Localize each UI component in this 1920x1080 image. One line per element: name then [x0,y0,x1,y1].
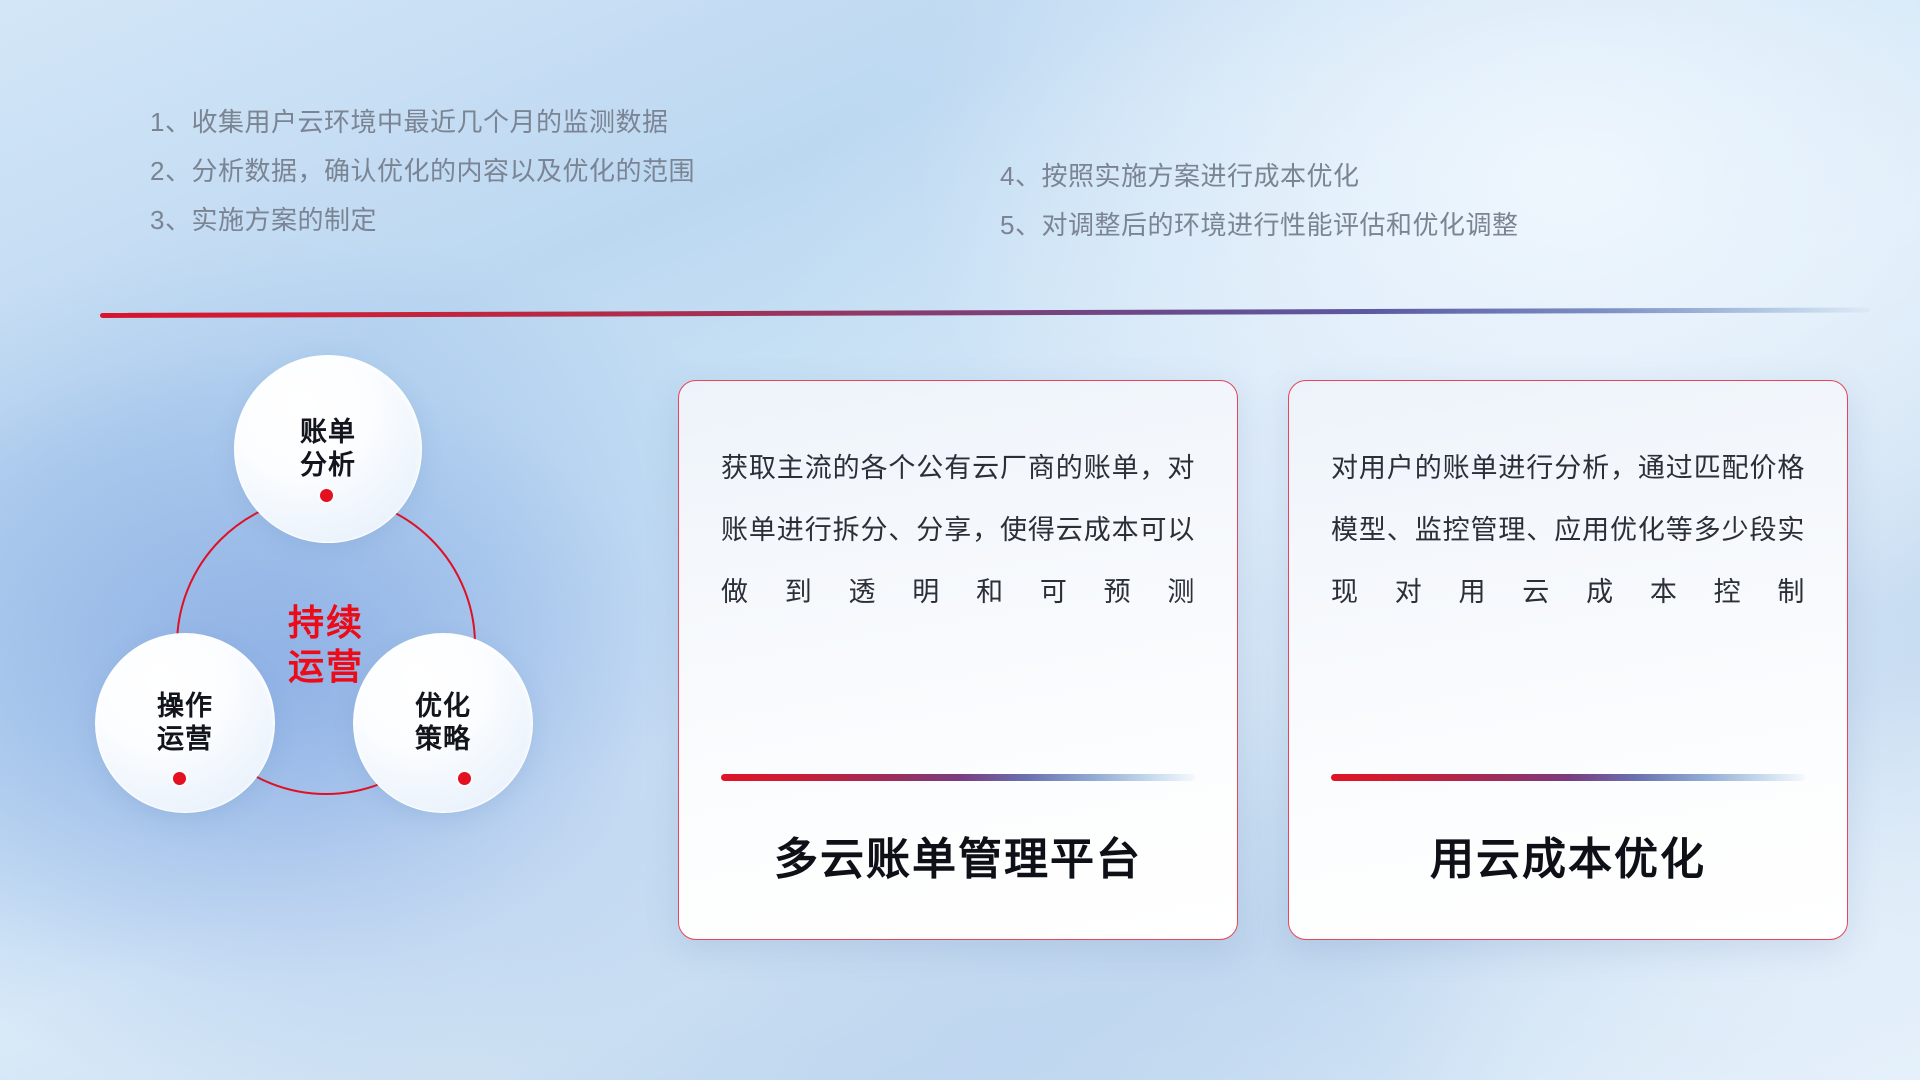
bubble-bill-analysis-label: 账单分析 [300,416,356,483]
card-2-title: 用云成本优化 [1331,823,1805,887]
steps-list-right: 4、按照实施方案进行成本优化 5、对调整后的环境进行性能评估和优化调整 [1000,152,1518,250]
bubble-top-line1: 账单 [300,417,356,447]
card-2-rule [1331,774,1805,781]
step-item-5: 5、对调整后的环境进行性能评估和优化调整 [1000,201,1518,250]
node-dot-right [458,772,471,785]
info-card-cost-optimization[interactable]: 对用户的账单进行分析，通过匹配价格模型、监控管理、应用优化等多少段实现对用云成本… [1288,380,1848,940]
center-label-line2: 运营 [288,645,364,689]
step-item-4: 4、按照实施方案进行成本优化 [1000,152,1518,201]
section-divider [100,307,1870,318]
card-1-rule [721,774,1195,781]
venn-diagram: 账单分析 操作运营 优化策略 持续 运营 [95,355,615,915]
info-card-bill-platform[interactable]: 获取主流的各个公有云厂商的账单，对账单进行拆分、分享，使得云成本可以做到透明和可… [678,380,1238,940]
slide-canvas: 1、收集用户云环境中最近几个月的监测数据 2、分析数据，确认优化的内容以及优化的… [0,0,1920,1080]
center-label: 持续 运营 [176,495,476,795]
node-dot-left [173,772,186,785]
center-label-line1: 持续 [288,601,364,645]
node-dot-top [320,489,333,502]
step-item-2: 2、分析数据，确认优化的内容以及优化的范围 [150,147,695,196]
steps-list-left: 1、收集用户云环境中最近几个月的监测数据 2、分析数据，确认优化的内容以及优化的… [150,98,695,245]
step-item-3: 3、实施方案的制定 [150,196,695,245]
card-2-body: 对用户的账单进行分析，通过匹配价格模型、监控管理、应用优化等多少段实现对用云成本… [1331,437,1805,623]
card-1-title: 多云账单管理平台 [721,823,1195,887]
step-item-1: 1、收集用户云环境中最近几个月的监测数据 [150,98,695,147]
bubble-top-line2: 分析 [300,450,356,480]
card-1-body: 获取主流的各个公有云厂商的账单，对账单进行拆分、分享，使得云成本可以做到透明和可… [721,437,1195,623]
